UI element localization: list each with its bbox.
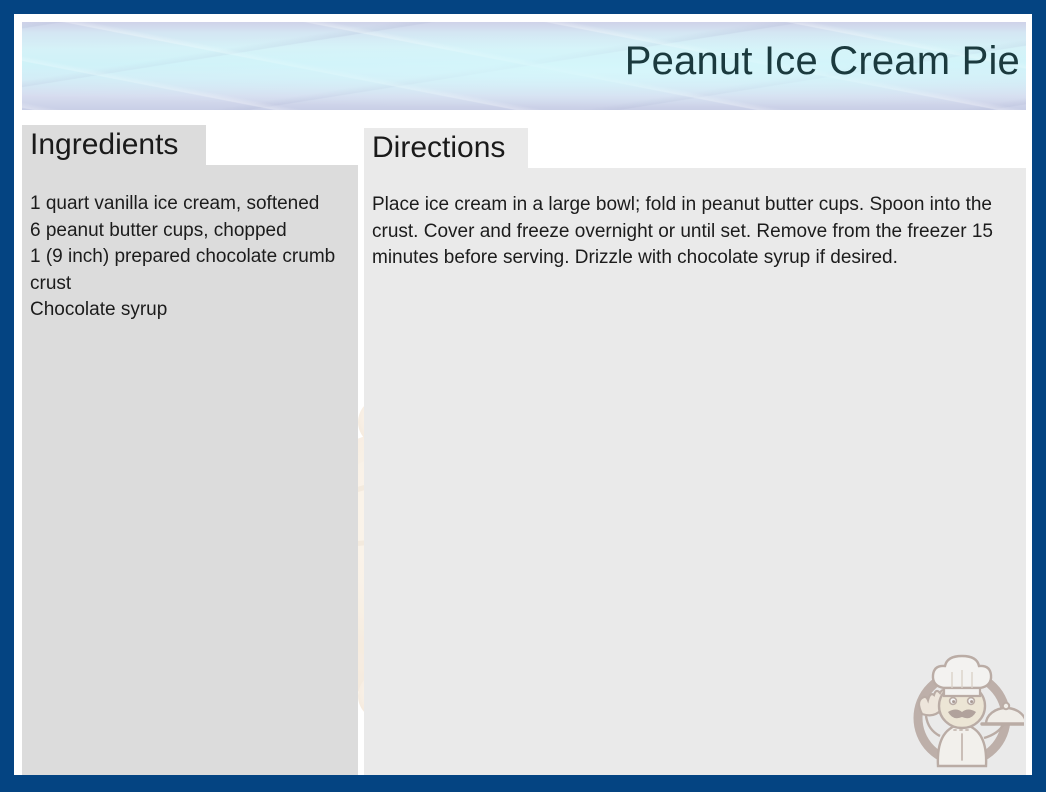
- ingredients-panel: Ingredients 1 quart vanilla ice cream, s…: [22, 125, 358, 775]
- ingredients-tab-notch: [206, 125, 358, 165]
- list-item: Chocolate syrup: [30, 297, 360, 324]
- directions-tab-notch: [528, 128, 1026, 168]
- recipe-card: Peanut Ice Cream Pie: [0, 0, 1046, 792]
- list-item: 6 peanut butter cups, chopped: [30, 218, 360, 245]
- frame-border-right: [1032, 0, 1046, 792]
- directions-panel: Directions Place ice cream in a large bo…: [364, 128, 1026, 775]
- recipe-title: Peanut Ice Cream Pie: [625, 39, 1020, 83]
- list-item: 1 quart vanilla ice cream, softened: [30, 191, 360, 218]
- ingredients-list: 1 quart vanilla ice cream, softened 6 pe…: [30, 191, 360, 324]
- directions-heading: Directions: [372, 130, 505, 166]
- list-item: 1 (9 inch) prepared chocolate crumb crus…: [30, 244, 360, 297]
- frame-border-bottom: [0, 775, 1046, 792]
- frame-border-top: [0, 0, 1046, 14]
- directions-text: Place ice cream in a large bowl; fold in…: [372, 192, 1024, 272]
- frame-border-left: [0, 0, 14, 792]
- ingredients-heading: Ingredients: [30, 127, 178, 163]
